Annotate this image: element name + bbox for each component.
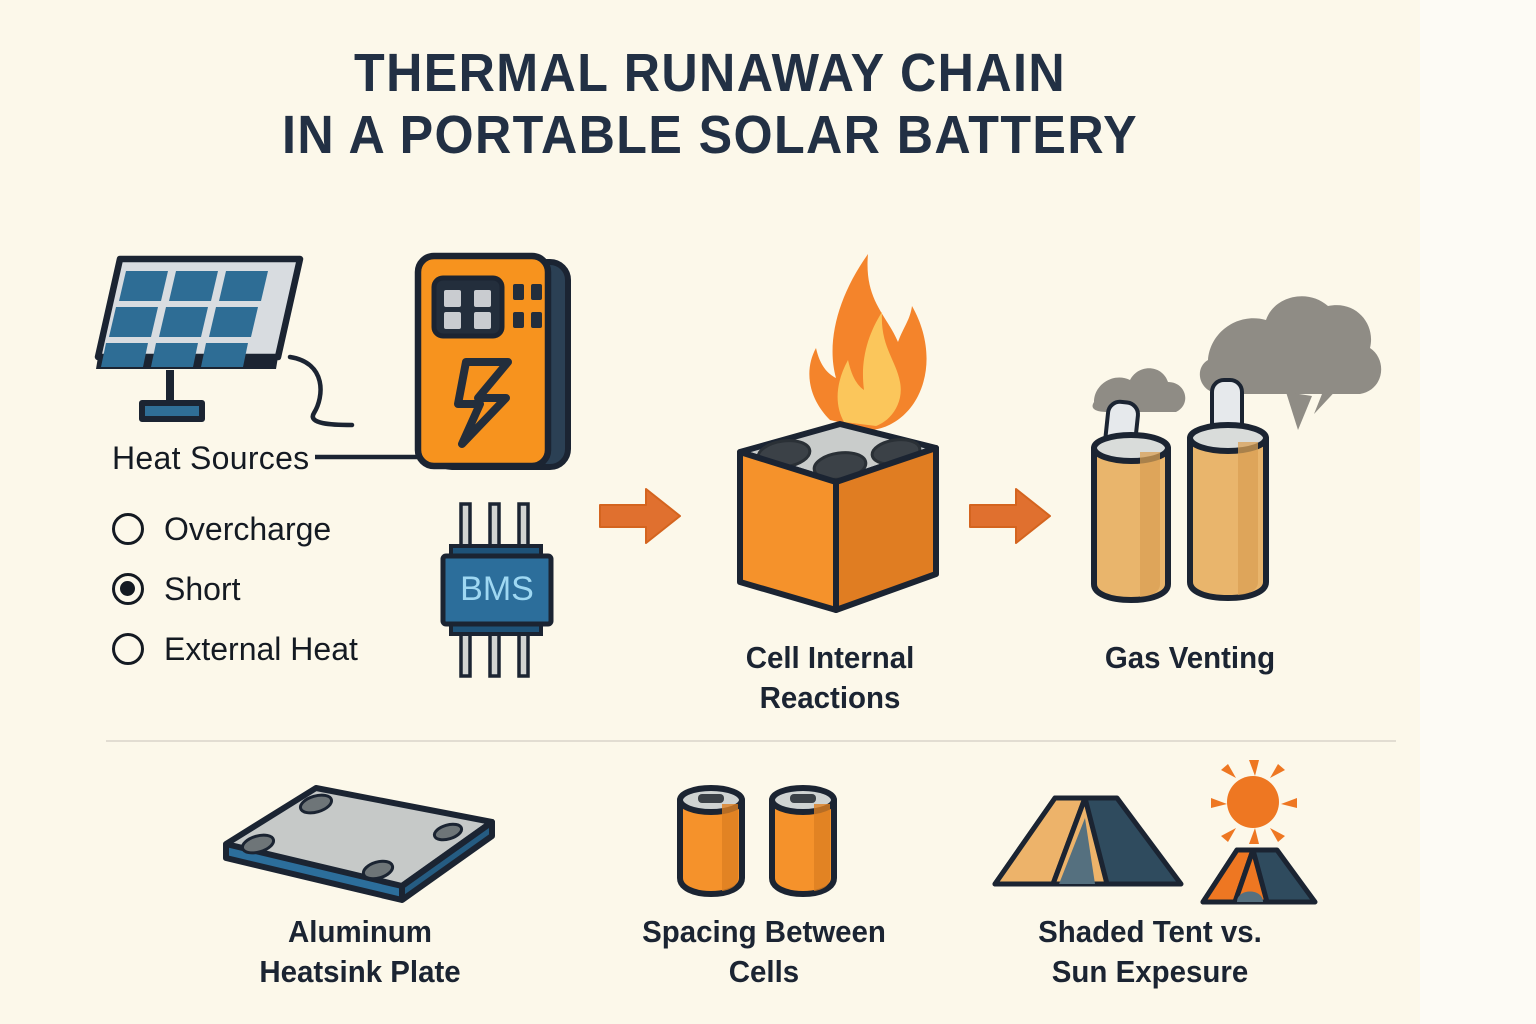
mitigation-heatsink-label: Aluminum Heatsink Plate [222, 912, 498, 992]
cell-pack-fire-icon [712, 238, 962, 628]
solar-panel-icon [62, 245, 352, 425]
infographic-poster: THERMAL RUNAWAY CHAIN IN A PORTABLE SOLA… [0, 0, 1420, 1024]
stage-cell-reactions-label: Cell Internal Reactions [707, 638, 954, 718]
bms-chip-icon: BMS [437, 500, 557, 680]
heat-source-option-external-heat[interactable]: External Heat [112, 619, 442, 679]
shaded-tent-icon [995, 798, 1181, 884]
mitigation-spacing-label: Spacing Between Cells [612, 912, 916, 992]
vented-cell-2 [1190, 380, 1266, 598]
mitigation-tent-label: Shaded Tent vs. Sun Expesure [993, 912, 1307, 992]
bms-chip-label: BMS [460, 570, 534, 608]
radio-checked-icon[interactable] [112, 573, 144, 605]
heat-source-label: Overcharge [164, 511, 331, 548]
heat-source-label: Short [164, 571, 240, 608]
section-divider [106, 740, 1396, 742]
cell-left [680, 788, 742, 894]
radio-unchecked-icon[interactable] [112, 513, 144, 545]
gas-venting-icon [1060, 272, 1390, 622]
vented-cell-1 [1094, 401, 1168, 600]
stage-gas-venting-label: Gas Venting [1048, 638, 1333, 678]
heatsink-plate-icon [212, 782, 502, 902]
heat-source-option-overcharge[interactable]: Overcharge [112, 499, 442, 559]
smoke-cloud-small-icon [1093, 368, 1186, 412]
sun-icon [1211, 760, 1297, 844]
heat-sources-block: Heat Sources Overcharge Short External H… [112, 440, 442, 679]
title-line-1: THERMAL RUNAWAY CHAIN [50, 42, 1371, 104]
heat-sources-heading: Heat Sources [112, 440, 442, 477]
spaced-cells-icon [672, 778, 852, 900]
arrow-2-icon [968, 487, 1052, 545]
heat-source-option-short[interactable]: Short [112, 559, 442, 619]
radio-unchecked-icon[interactable] [112, 633, 144, 665]
tent-sun-icon [985, 762, 1325, 912]
arrow-1-icon [598, 487, 682, 545]
sun-exposed-tent-icon [1203, 850, 1315, 902]
page-title: THERMAL RUNAWAY CHAIN IN A PORTABLE SOLA… [50, 42, 1371, 166]
heat-source-label: External Heat [164, 631, 358, 668]
cell-right [772, 788, 834, 894]
title-line-2: IN A PORTABLE SOLAR BATTERY [50, 104, 1371, 166]
